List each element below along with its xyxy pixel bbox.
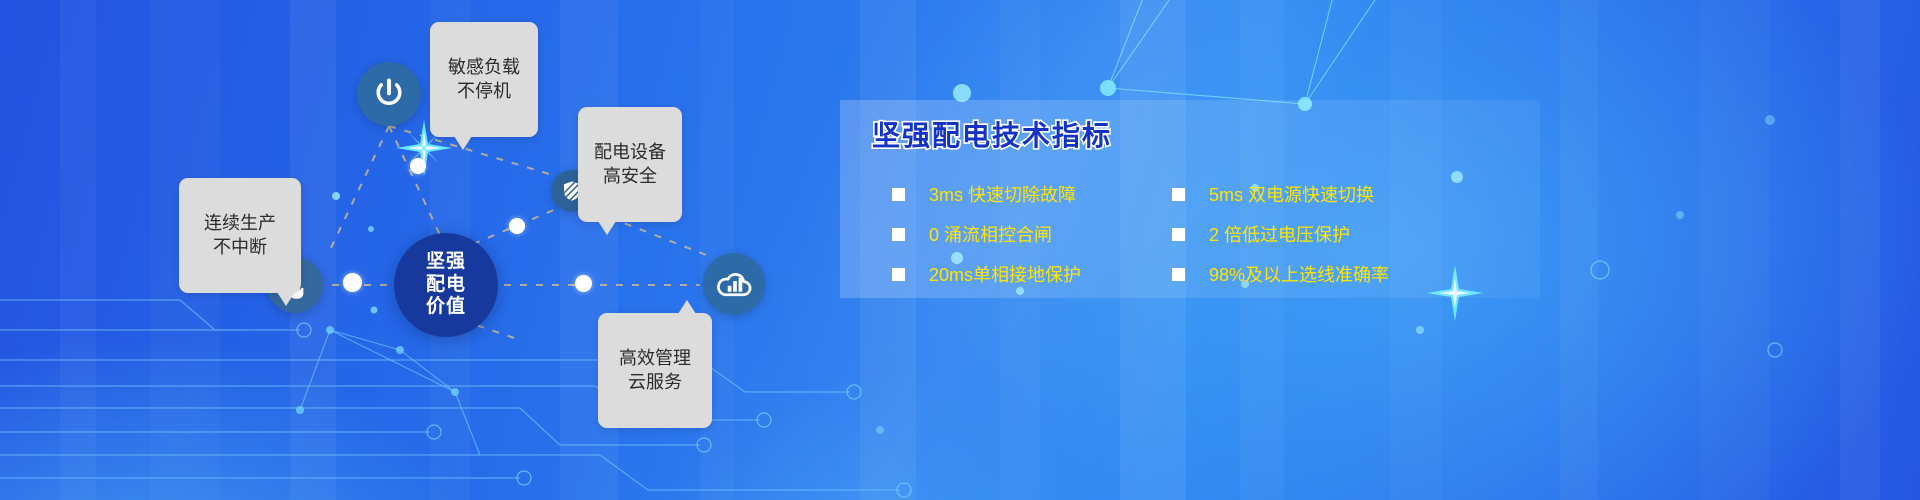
connector-dot	[343, 273, 362, 292]
spec-item: 20ms单相接地保护	[892, 254, 1172, 294]
specs-list: 3ms 快速切除故障 5ms 双电源快速切换 0 涌流相控合闸 2 倍低过电压保…	[892, 174, 1532, 294]
bubble-tail	[678, 300, 696, 314]
promo-banner: 坚强 配电 价值 敏感负载 不停机 配电设备 高安全 连续生产 不中断 高效管理…	[0, 0, 1920, 500]
bubble-tail	[277, 292, 295, 306]
spec-item: 0 涌流相控合闸	[892, 214, 1172, 254]
callout-sensitive-load-text: 敏感负载 不停机	[448, 57, 520, 101]
center-node-line-3: 价值	[426, 296, 466, 318]
specs-title: 坚强配电技术指标	[872, 114, 1112, 154]
callout-equipment-safety: 配电设备 高安全	[578, 107, 682, 222]
specs-panel: 坚强配电技术指标 3ms 快速切除故障 5ms 双电源快速切换 0 涌流相控合闸…	[840, 100, 1540, 298]
bullet-square-icon	[892, 228, 905, 241]
center-node-line-2: 配电	[426, 274, 466, 296]
connector-dot	[410, 158, 426, 174]
bubble-tail	[598, 221, 616, 235]
node-cloud-chart[interactable]	[703, 253, 765, 315]
node-power[interactable]	[357, 62, 421, 126]
bullet-square-icon	[1172, 228, 1185, 241]
cloud-chart-icon	[714, 264, 754, 304]
spec-item-label: 5ms 双电源快速切换	[1209, 181, 1374, 207]
bullet-square-icon	[892, 188, 905, 201]
stripe-band	[1840, 0, 1880, 500]
spec-item: 2 倍低过电压保护	[1172, 214, 1452, 254]
bullet-square-icon	[1172, 268, 1185, 281]
bullet-square-icon	[1172, 188, 1185, 201]
stripe-band	[1560, 0, 1598, 500]
bottom-left-glow	[0, 320, 520, 500]
spec-item-label: 98%及以上选线准确率	[1209, 261, 1389, 287]
power-icon	[372, 77, 406, 111]
spec-item: 5ms 双电源快速切换	[1172, 174, 1452, 214]
bullet-square-icon	[892, 268, 905, 281]
callout-continuous-production-text: 连续生产 不中断	[204, 213, 276, 257]
callout-sensitive-load: 敏感负载 不停机	[430, 22, 538, 137]
spec-item-label: 0 涌流相控合闸	[929, 221, 1052, 247]
center-node[interactable]: 坚强 配电 价值	[394, 233, 498, 337]
callout-continuous-production: 连续生产 不中断	[179, 178, 301, 293]
stripe-band	[1700, 0, 1770, 500]
spec-item: 3ms 快速切除故障	[892, 174, 1172, 214]
callout-equipment-safety-text: 配电设备 高安全	[594, 142, 666, 186]
spec-item-label: 20ms单相接地保护	[929, 261, 1081, 287]
callout-cloud-management-text: 高效管理 云服务	[619, 348, 691, 392]
spec-item-label: 3ms 快速切除故障	[929, 181, 1076, 207]
spec-item-label: 2 倍低过电压保护	[1209, 221, 1350, 247]
connector-dot	[509, 218, 525, 234]
connector-dot	[575, 275, 592, 292]
center-node-line-1: 坚强	[426, 251, 466, 273]
callout-cloud-management: 高效管理 云服务	[598, 313, 712, 428]
bubble-tail	[454, 136, 472, 150]
stripe-band	[60, 0, 96, 500]
spec-item: 98%及以上选线准确率	[1172, 254, 1452, 294]
